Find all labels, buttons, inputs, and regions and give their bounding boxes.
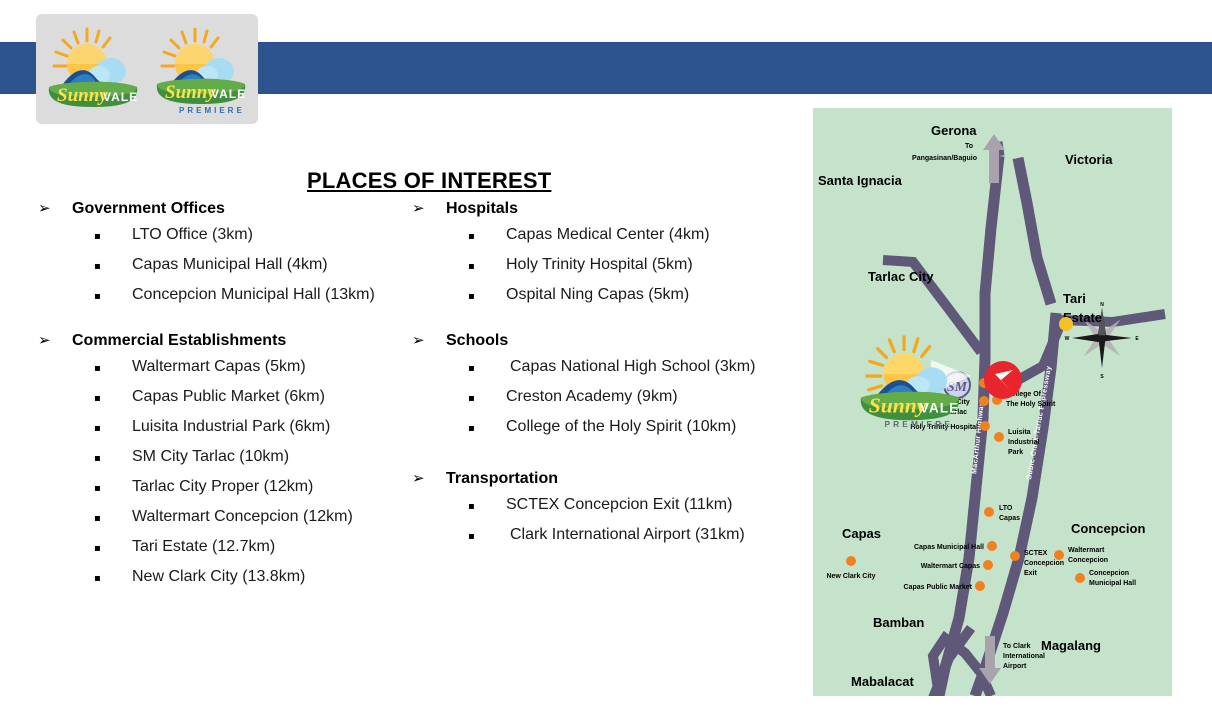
list-item: ▪ Creston Academy (9km) — [412, 388, 802, 406]
list-item: ▪ Clark International Airport (31km) — [412, 526, 802, 544]
list-item: ▪ Capas National High School (3km) — [412, 358, 802, 376]
poi-label-lto-capas-line2: Capas — [999, 515, 1020, 522]
poi-dot-waltermart-concepcion — [1054, 550, 1064, 560]
brand-logo-box: Sunny VALE — [36, 14, 258, 124]
map-sunnyvale-logo: Sunny VALE PREMIERE — [861, 337, 959, 429]
map-city-mabalacat: Mabalacat — [851, 674, 915, 689]
list-item: ▪ Tarlac City Proper (12km) — [38, 478, 418, 496]
poi-label-concepcion-municipal-hall-line1: Concepcion — [1089, 570, 1129, 577]
square-bullet-icon: ▪ — [94, 452, 132, 466]
list-item-label: Capas Medical Center (4km) — [506, 226, 710, 244]
poi-label-sctex-line3: Exit — [1024, 570, 1038, 577]
compass-label-w: W — [1065, 336, 1070, 342]
square-bullet-icon: ▪ — [468, 500, 506, 514]
road-victoria-branch — [1018, 158, 1051, 304]
poi-label-sctex-line1: SCTEX — [1024, 550, 1048, 557]
poi-label-new-clark-city: New Clark City — [826, 573, 875, 580]
list-item-label: Tari Estate (12.7km) — [132, 538, 275, 556]
sunnyvale-logo: Sunny VALE — [41, 21, 145, 117]
poi-label-waltermart-concepcion-line1: Waltermart — [1068, 547, 1105, 554]
poi-label-waltermart-concepcion-line2: Concepcion — [1068, 557, 1108, 564]
list-item-label: Holy Trinity Hospital (5km) — [506, 256, 693, 274]
poi-label-luisita-line1: Luisita — [1008, 429, 1031, 436]
square-bullet-icon: ▪ — [94, 290, 132, 304]
list-item: ▪ SM City Tarlac (10km) — [38, 448, 418, 466]
group-heading: ➢ Government Offices — [38, 200, 418, 218]
map-city-tari: Tari — [1063, 291, 1086, 306]
list-item: ▪ Capas Municipal Hall (4km) — [38, 256, 418, 274]
poi-label-lto-capas-line1: LTO — [999, 505, 1013, 512]
group-title: Transportation — [446, 470, 558, 488]
sunnyvale-premiere-logo: Sunny VALE PREMIERE — [149, 21, 253, 117]
square-bullet-icon: ▪ — [94, 260, 132, 274]
poi-label-sctex-line2: Concepcion — [1024, 560, 1064, 567]
poi-dot-new-clark-city — [846, 556, 856, 566]
poi-label-capas-public-market: Capas Public Market — [904, 584, 973, 591]
square-bullet-icon: ▪ — [94, 392, 132, 406]
list-item-label: Luisita Industrial Park (6km) — [132, 418, 330, 436]
direction-note-pangasinan-line1: To — [965, 143, 973, 150]
list-item-label: Capas Public Market (6km) — [132, 388, 325, 406]
group-title: Government Offices — [72, 200, 225, 218]
list-item-label: Waltermart Capas (5km) — [132, 358, 306, 376]
poi-dot-capas-public-market — [975, 581, 985, 591]
map-city-concepcion: Concepcion — [1071, 521, 1145, 536]
svg-text:PREMIERE: PREMIERE — [179, 106, 245, 115]
poi-group-hospitals: ➢ Hospitals ▪ Capas Medical Center (4km)… — [412, 200, 802, 304]
svg-text:VALE: VALE — [211, 87, 246, 101]
square-bullet-icon: ▪ — [468, 230, 506, 244]
list-item: ▪ Capas Public Market (6km) — [38, 388, 418, 406]
list-item-label: Concepcion Municipal Hall (13km) — [132, 286, 375, 304]
arrow-bullet-icon: ➢ — [412, 471, 446, 486]
list-item: ▪ College of the Holy Spirit (10km) — [412, 418, 802, 436]
map-city-tarlac-city: Tarlac City — [868, 269, 934, 284]
svg-text:Sunny: Sunny — [165, 82, 216, 103]
poi-label-concepcion-municipal-hall-line2: Municipal Hall — [1089, 580, 1136, 587]
square-bullet-icon: ▪ — [94, 482, 132, 496]
list-item-label: Ospital Ning Capas (5km) — [506, 286, 689, 304]
square-bullet-icon: ▪ — [468, 290, 506, 304]
map-city-bamban: Bamban — [873, 615, 924, 630]
svg-text:Sunny: Sunny — [869, 393, 927, 417]
poi-dot-sctex-concepcion-exit — [1010, 551, 1020, 561]
list-item: ▪ New Clark City (13.8km) — [38, 568, 418, 586]
square-bullet-icon: ▪ — [468, 422, 506, 436]
page-title: PLACES OF INTEREST — [307, 168, 551, 194]
map-city-victoria: Victoria — [1065, 152, 1113, 167]
list-item-label: New Clark City (13.8km) — [132, 568, 305, 586]
location-map: MacArthur Highway Subic-Clark-Tarlac Exp… — [813, 108, 1172, 696]
arrow-bullet-icon: ➢ — [38, 333, 72, 348]
square-bullet-icon: ▪ — [468, 530, 506, 544]
list-item: ▪ Holy Trinity Hospital (5km) — [412, 256, 802, 274]
poi-column-right: ➢ Hospitals ▪ Capas Medical Center (4km)… — [412, 200, 802, 566]
list-item: ▪ LTO Office (3km) — [38, 226, 418, 244]
direction-note-clark-line1: To Clark — [1003, 643, 1031, 650]
group-heading: ➢ Schools — [412, 332, 802, 350]
compass-label-e: E — [1135, 336, 1139, 342]
svg-text:Sunny: Sunny — [57, 85, 108, 106]
poi-label-luisita-line3: Park — [1008, 449, 1023, 456]
poi-dot-lto-capas — [984, 507, 994, 517]
group-title: Commercial Establishments — [72, 332, 286, 350]
map-city-magalang: Magalang — [1041, 638, 1101, 653]
group-heading: ➢ Hospitals — [412, 200, 802, 218]
map-city-santa-ignacia: Santa Ignacia — [818, 173, 903, 188]
direction-note-clark-line3: Airport — [1003, 663, 1027, 670]
direction-note-pangasinan-line2: Pangasinan/Baguio — [912, 155, 977, 162]
poi-group-government-offices: ➢ Government Offices ▪ LTO Office (3km) … — [38, 200, 418, 304]
svg-text:PREMIERE: PREMIERE — [884, 419, 953, 429]
list-item-label: LTO Office (3km) — [132, 226, 253, 244]
map-city-capas: Capas — [842, 526, 881, 541]
list-item: ▪ Waltermart Capas (5km) — [38, 358, 418, 376]
list-item: ▪ Luisita Industrial Park (6km) — [38, 418, 418, 436]
list-item-label: Capas National High School (3km) — [506, 358, 755, 376]
square-bullet-icon: ▪ — [94, 230, 132, 244]
svg-text:VALE: VALE — [103, 90, 138, 104]
compass-label-s: S — [1100, 374, 1104, 380]
poi-group-schools: ➢ Schools ▪ Capas National High School (… — [412, 332, 802, 436]
poi-dot-luisita-industrial-park — [994, 432, 1004, 442]
list-item: ▪ Concepcion Municipal Hall (13km) — [38, 286, 418, 304]
poi-label-capas-municipal-hall: Capas Municipal Hall — [914, 544, 984, 551]
poi-dot-holy-trinity-hospital — [980, 421, 990, 431]
list-item-label: Tarlac City Proper (12km) — [132, 478, 313, 496]
poi-label-college-holy-spirit-line2: The Holy Spirit — [1006, 401, 1056, 408]
poi-dot-capas-municipal-hall — [987, 541, 997, 551]
direction-note-clark-line2: International — [1003, 653, 1045, 660]
square-bullet-icon: ▪ — [94, 362, 132, 376]
group-title: Schools — [446, 332, 508, 350]
square-bullet-icon: ▪ — [94, 572, 132, 586]
square-bullet-icon: ▪ — [468, 362, 506, 376]
list-item-label: SM City Tarlac (10km) — [132, 448, 289, 466]
group-title: Hospitals — [446, 200, 518, 218]
poi-dot-waltermart-capas — [983, 560, 993, 570]
list-item-label: Clark International Airport (31km) — [506, 526, 745, 544]
square-bullet-icon: ▪ — [468, 392, 506, 406]
list-item: ▪ Tari Estate (12.7km) — [38, 538, 418, 556]
poi-label-luisita-line2: Industrial — [1008, 439, 1040, 446]
group-heading: ➢ Commercial Establishments — [38, 332, 418, 350]
square-bullet-icon: ▪ — [94, 422, 132, 436]
poi-column-left: ➢ Government Offices ▪ LTO Office (3km) … — [38, 200, 418, 608]
list-item: ▪ Waltermart Concepcion (12km) — [38, 508, 418, 526]
list-item-label: Waltermart Concepcion (12km) — [132, 508, 353, 526]
poi-group-transportation: ➢ Transportation ▪ SCTEX Concepcion Exit… — [412, 470, 802, 544]
poi-group-commercial-establishments: ➢ Commercial Establishments ▪ Waltermart… — [38, 332, 418, 586]
list-item: ▪ Ospital Ning Capas (5km) — [412, 286, 802, 304]
arrow-bullet-icon: ➢ — [38, 201, 72, 216]
map-canvas: MacArthur Highway Subic-Clark-Tarlac Exp… — [813, 108, 1172, 696]
square-bullet-icon: ▪ — [468, 260, 506, 274]
square-bullet-icon: ▪ — [94, 512, 132, 526]
poi-label-waltermart-capas: Waltermart Capas — [921, 563, 980, 570]
arrow-bullet-icon: ➢ — [412, 333, 446, 348]
svg-text:VALE: VALE — [920, 400, 960, 415]
list-item-label: Creston Academy (9km) — [506, 388, 678, 406]
poi-dot-tari-estate — [1059, 317, 1073, 331]
poi-dot-concepcion-municipal-hall — [1075, 573, 1085, 583]
list-item-label: Capas Municipal Hall (4km) — [132, 256, 328, 274]
group-heading: ➢ Transportation — [412, 470, 802, 488]
list-item: ▪ Capas Medical Center (4km) — [412, 226, 802, 244]
compass-label-n: N — [1100, 302, 1104, 308]
list-item-label: SCTEX Concepcion Exit (11km) — [506, 496, 732, 514]
map-city-gerona: Gerona — [931, 123, 977, 138]
list-item-label: College of the Holy Spirit (10km) — [506, 418, 736, 436]
list-item: ▪ SCTEX Concepcion Exit (11km) — [412, 496, 802, 514]
site-marker-sunnyvale — [984, 361, 1022, 399]
poi-dot-tarlac-city-proper — [979, 396, 989, 406]
arrow-bullet-icon: ➢ — [412, 201, 446, 216]
square-bullet-icon: ▪ — [94, 542, 132, 556]
